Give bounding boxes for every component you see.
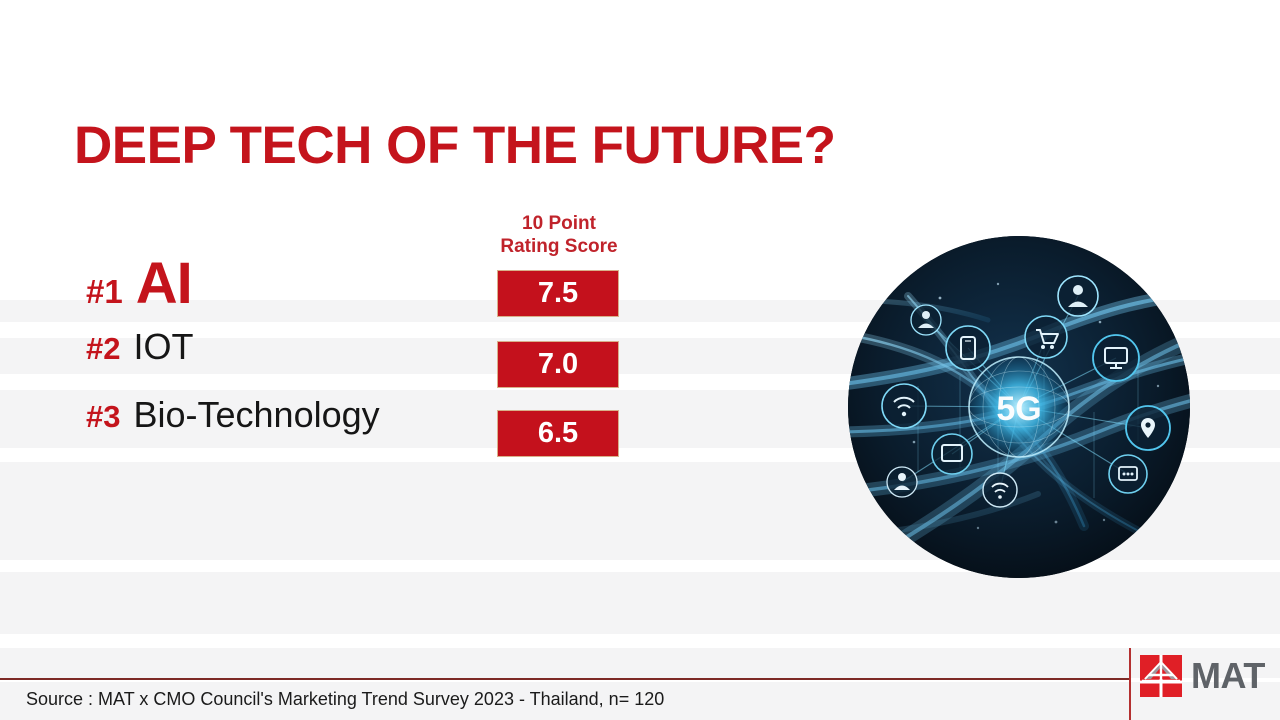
monitor-icon — [1093, 335, 1139, 381]
footer-vertical-divider — [1129, 648, 1131, 720]
rank-label: IOT — [133, 326, 193, 368]
rank-number: #3 — [86, 399, 120, 435]
svg-text:5G: 5G — [996, 390, 1041, 428]
slide-canvas: DEEP TECH OF THE FUTURE? #1 AI #2 IOT #3… — [0, 0, 1280, 720]
list-item: #2 IOT — [86, 326, 486, 394]
page-title: DEEP TECH OF THE FUTURE? — [74, 118, 835, 174]
mat-logo-text: MAT — [1191, 658, 1265, 694]
background-band — [0, 648, 1280, 678]
wifi-icon — [882, 384, 926, 428]
rank-number: #2 — [86, 331, 120, 367]
tablet-icon — [932, 434, 972, 474]
wifi-icon — [983, 473, 1017, 507]
rank-label: Bio-Technology — [133, 394, 379, 436]
person-icon — [887, 467, 917, 497]
keypad-icon — [1109, 455, 1147, 493]
list-item: #1 AI — [86, 250, 486, 326]
source-note: Source : MAT x CMO Council's Marketing T… — [26, 689, 664, 710]
score-column: 10 Point Rating Score 7.5 7.0 6.5 — [497, 212, 621, 258]
shopping-cart-icon — [1025, 316, 1067, 358]
5g-core-node: 5G — [969, 357, 1069, 457]
rank-number: #1 — [86, 273, 123, 311]
score-badge: 6.5 — [497, 410, 619, 457]
person-icon — [911, 305, 941, 335]
rank-label: AI — [136, 250, 192, 317]
footer-divider — [0, 678, 1130, 680]
ranking-list: #1 AI #2 IOT #3 Bio-Technology — [86, 250, 486, 456]
network-5g-illustration: 5G — [848, 236, 1190, 578]
score-header-line2: Rating Score — [497, 235, 621, 258]
score-header-line1: 10 Point — [497, 212, 621, 235]
score-badge: 7.0 — [497, 341, 619, 388]
person-icon — [1058, 276, 1098, 316]
network-5g-image: 5G — [848, 236, 1190, 578]
location-pin-icon — [1126, 406, 1170, 450]
smartphone-icon — [946, 326, 990, 370]
mat-logo: MAT — [1140, 655, 1265, 697]
mat-logo-icon — [1140, 655, 1182, 697]
score-column-header: 10 Point Rating Score — [497, 212, 621, 258]
score-badge: 7.5 — [497, 270, 619, 317]
background-band — [0, 572, 1280, 634]
list-item: #3 Bio-Technology — [86, 394, 486, 456]
